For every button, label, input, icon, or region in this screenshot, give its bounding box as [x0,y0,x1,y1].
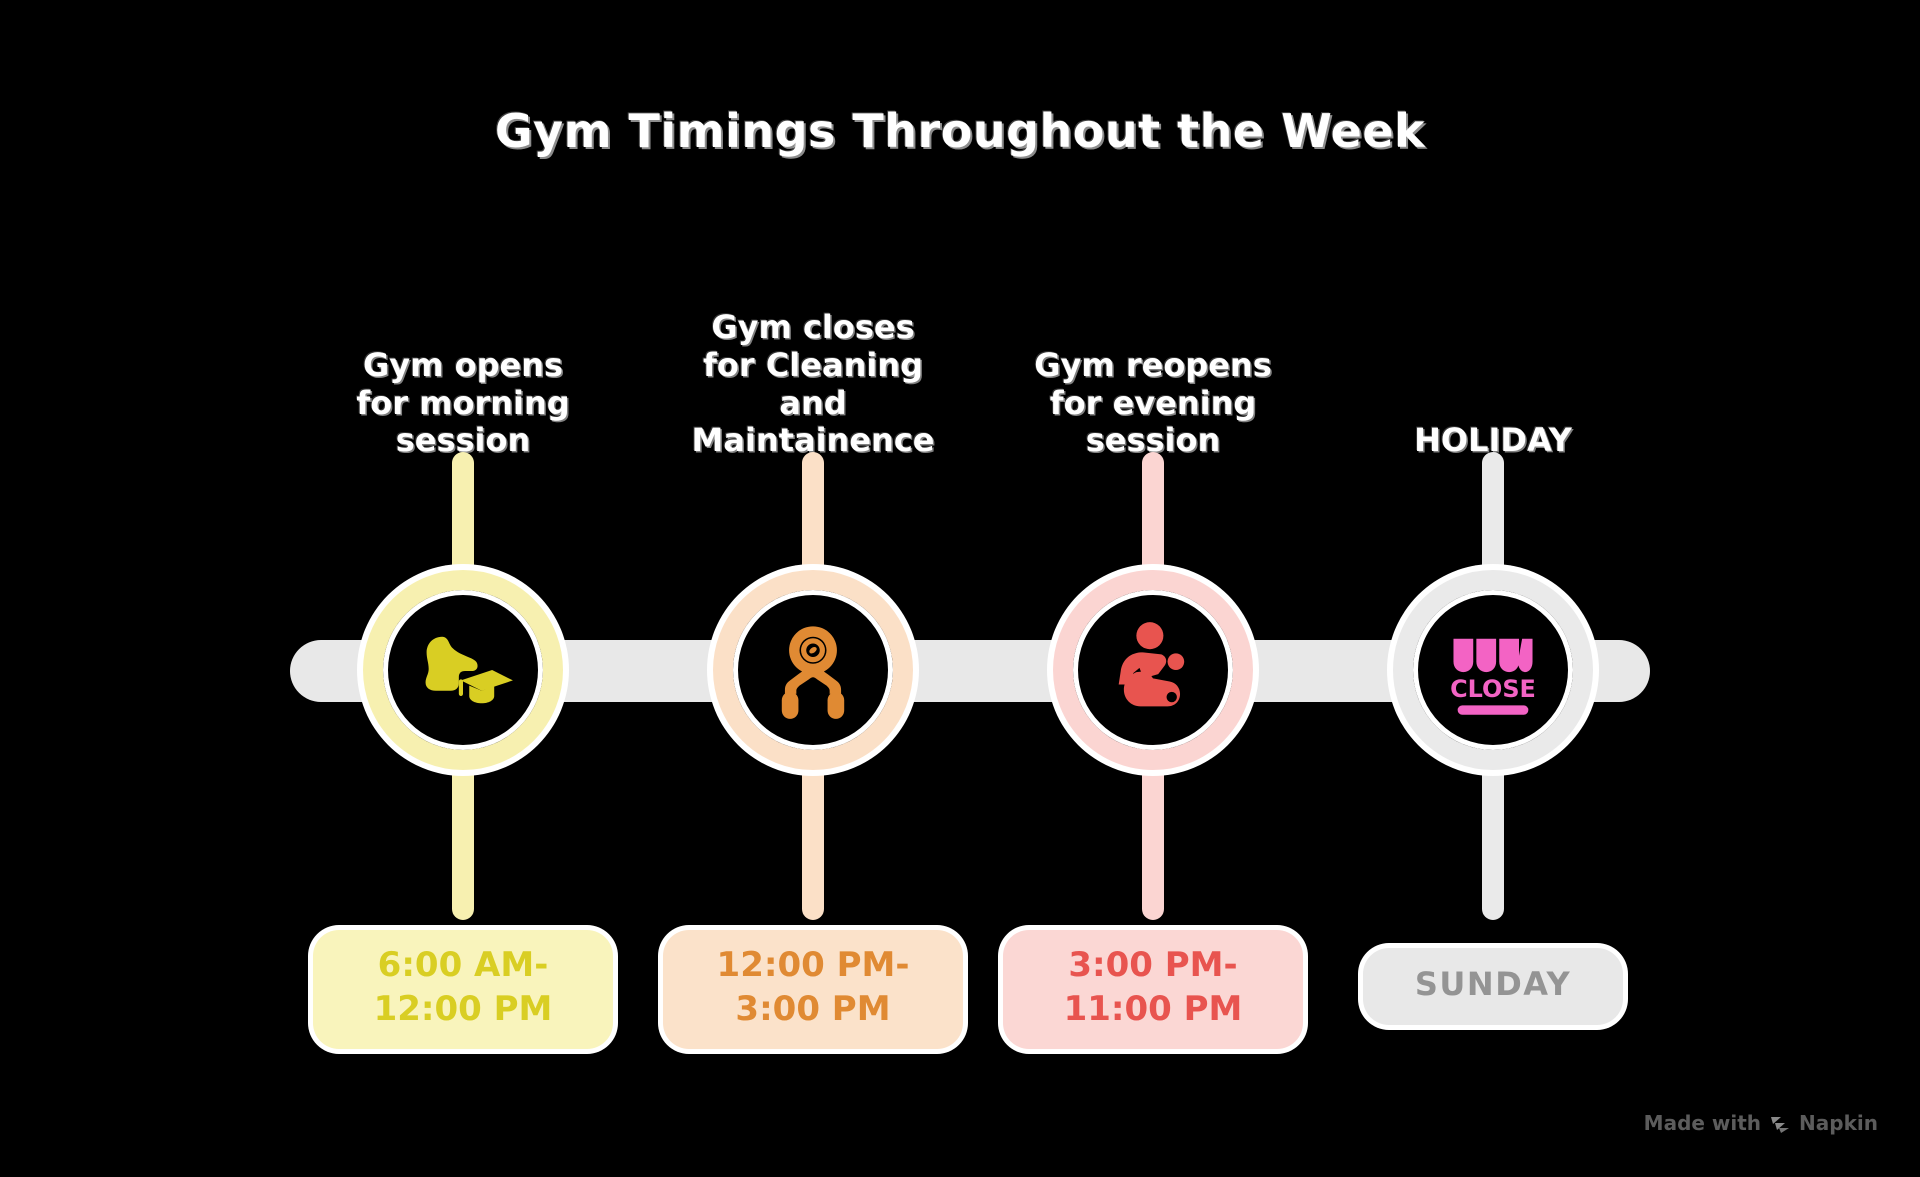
node-4-time-pill: SUNDAY [1363,948,1623,1025]
node-3-stem-lower [1142,760,1164,920]
napkin-watermark: Made with Napkin [1644,1111,1878,1135]
hand-grip-exerciser-icon [761,618,865,722]
node-1-stem-lower [452,760,474,920]
node-2-time-pill: 12:00 PM- 3:00 PM [663,930,963,1049]
node-1-caption: Gym opens for morning session [313,347,613,460]
timeline-node-1[interactable]: Gym opens for morning session 6:00 AM- 1… [313,0,613,1177]
timeline-node-3[interactable]: Gym reopens for evening session [1003,0,1303,1177]
svg-text:CLOSE: CLOSE [1450,675,1536,703]
node-4-stem-upper [1482,452,1504,582]
exercise-bike-rider-icon [1101,618,1205,722]
napkin-logo-icon [1769,1114,1791,1132]
node-2-stem-lower [802,760,824,920]
node-2-ring[interactable] [713,570,913,770]
shop-closed-awning-icon: CLOSE [1441,618,1545,722]
bicep-graduation-cap-icon [411,618,515,722]
timeline-node-4[interactable]: HOLIDAY CLOSE SUNDAY [1343,0,1643,1177]
node-1-time-pill: 6:00 AM- 12:00 PM [313,930,613,1049]
node-3-time-pill: 3:00 PM- 11:00 PM [1003,930,1303,1049]
timeline-node-2[interactable]: Gym closes for Cleaning and Maintainence [663,0,963,1177]
watermark-prefix: Made with [1644,1111,1761,1135]
node-3-ring[interactable] [1053,570,1253,770]
node-2-stem-upper [802,452,824,582]
timeline-diagram: Gym opens for morning session 6:00 AM- 1… [0,0,1920,1177]
node-3-stem-upper [1142,452,1164,582]
node-3-caption: Gym reopens for evening session [1003,347,1303,460]
node-1-ring[interactable] [363,570,563,770]
node-4-ring[interactable]: CLOSE [1393,570,1593,770]
node-4-stem-lower [1482,760,1504,920]
watermark-brand: Napkin [1799,1111,1878,1135]
node-2-caption: Gym closes for Cleaning and Maintainence [663,309,963,460]
node-1-stem-upper [452,452,474,582]
